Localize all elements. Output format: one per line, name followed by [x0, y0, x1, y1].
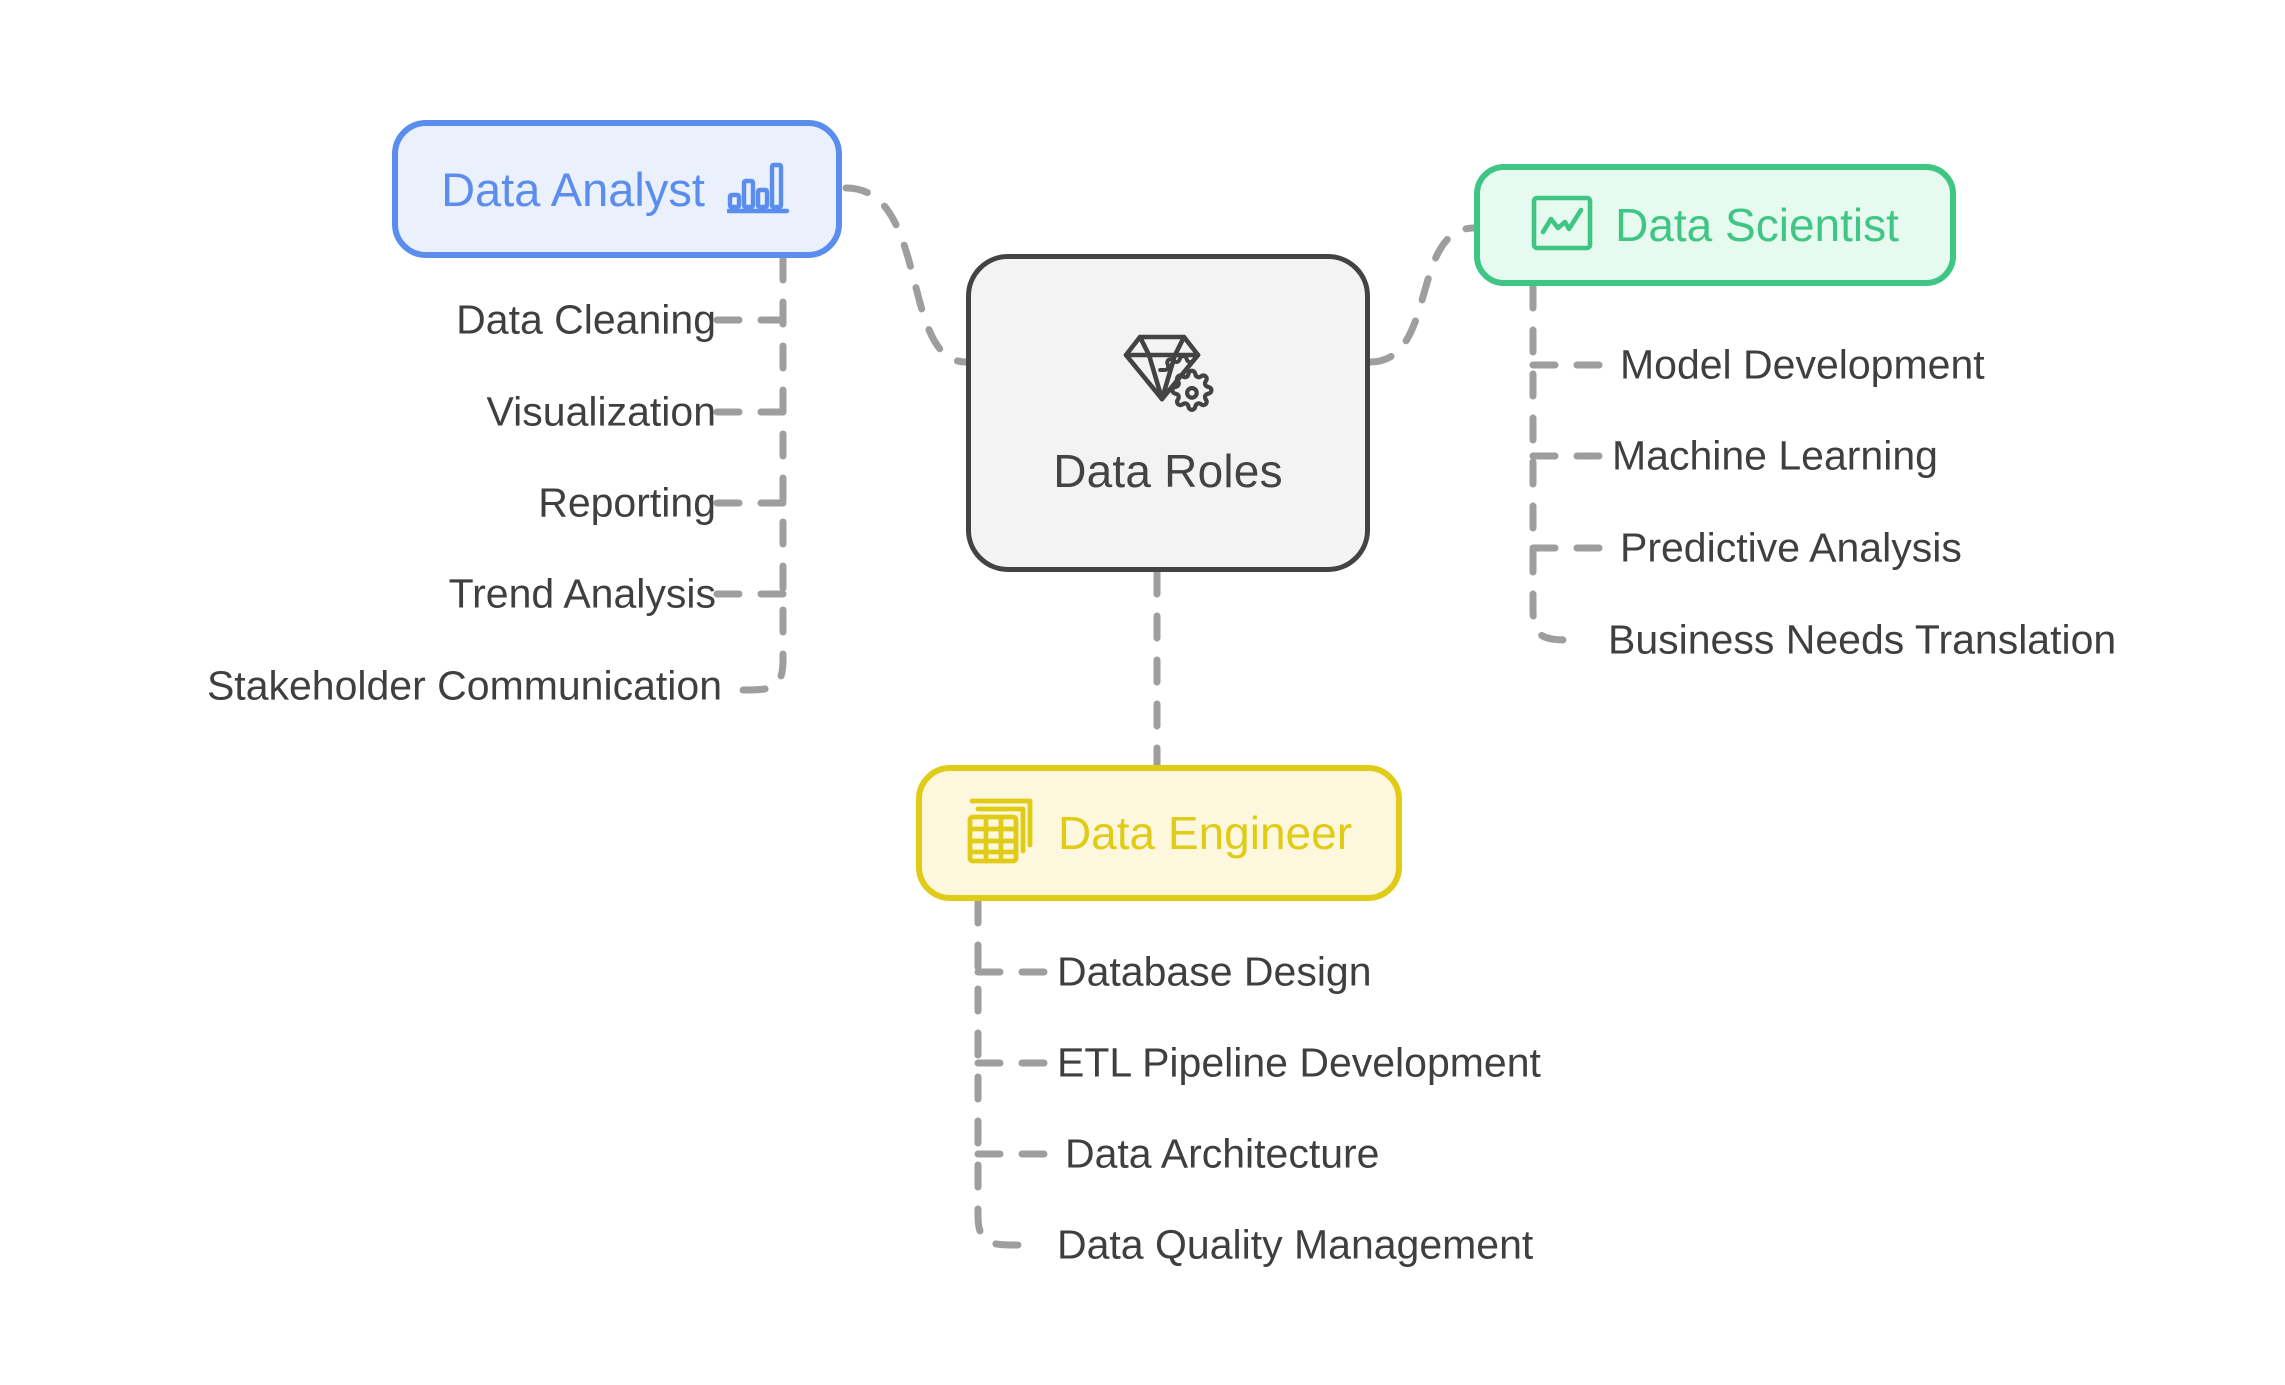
- edge-scientist-trunk: [1533, 286, 1574, 640]
- leaf-data-analyst-2: Visualization: [487, 392, 716, 433]
- leaf-data-analyst-5: Stakeholder Communication: [207, 666, 722, 707]
- edge-analyst-trunk: [742, 258, 783, 690]
- line-chart-box-icon: [1531, 194, 1593, 257]
- leaf-data-engineer-4: Data Quality Management: [1057, 1225, 1533, 1266]
- leaf-data-analyst-4: Trend Analysis: [449, 574, 716, 615]
- node-root[interactable]: Data Roles: [966, 254, 1370, 572]
- leaf-data-scientist-1: Model Development: [1620, 345, 1985, 386]
- edge-root-to-data-scientist: [1370, 228, 1474, 362]
- leaf-data-analyst-1: Data Cleaning: [456, 300, 716, 341]
- bar-chart-icon: [727, 159, 793, 220]
- diamond-gear-icon: [1118, 329, 1218, 426]
- data-engineer-label: Data Engineer: [1058, 806, 1352, 860]
- mindmap-canvas: Data Roles Data Analyst Data Scientist: [0, 0, 2285, 1385]
- edge-root-to-data-analyst: [846, 188, 966, 362]
- node-data-scientist[interactable]: Data Scientist: [1474, 164, 1956, 286]
- node-data-analyst[interactable]: Data Analyst: [392, 120, 842, 258]
- leaf-data-engineer-2: ETL Pipeline Development: [1057, 1043, 1541, 1084]
- leaf-data-scientist-4: Business Needs Translation: [1608, 620, 2116, 661]
- stacked-tables-icon: [966, 795, 1040, 872]
- leaf-data-engineer-1: Database Design: [1057, 952, 1372, 993]
- node-data-engineer[interactable]: Data Engineer: [916, 765, 1402, 901]
- data-analyst-label: Data Analyst: [441, 162, 705, 217]
- leaf-data-analyst-3: Reporting: [538, 483, 716, 524]
- root-label: Data Roles: [1053, 444, 1283, 498]
- leaf-data-scientist-3: Predictive Analysis: [1620, 528, 1962, 569]
- edge-engineer-trunk: [978, 901, 1019, 1245]
- data-scientist-label: Data Scientist: [1615, 198, 1899, 252]
- leaf-data-engineer-3: Data Architecture: [1065, 1134, 1380, 1175]
- leaf-data-scientist-2: Machine Learning: [1612, 436, 1938, 477]
